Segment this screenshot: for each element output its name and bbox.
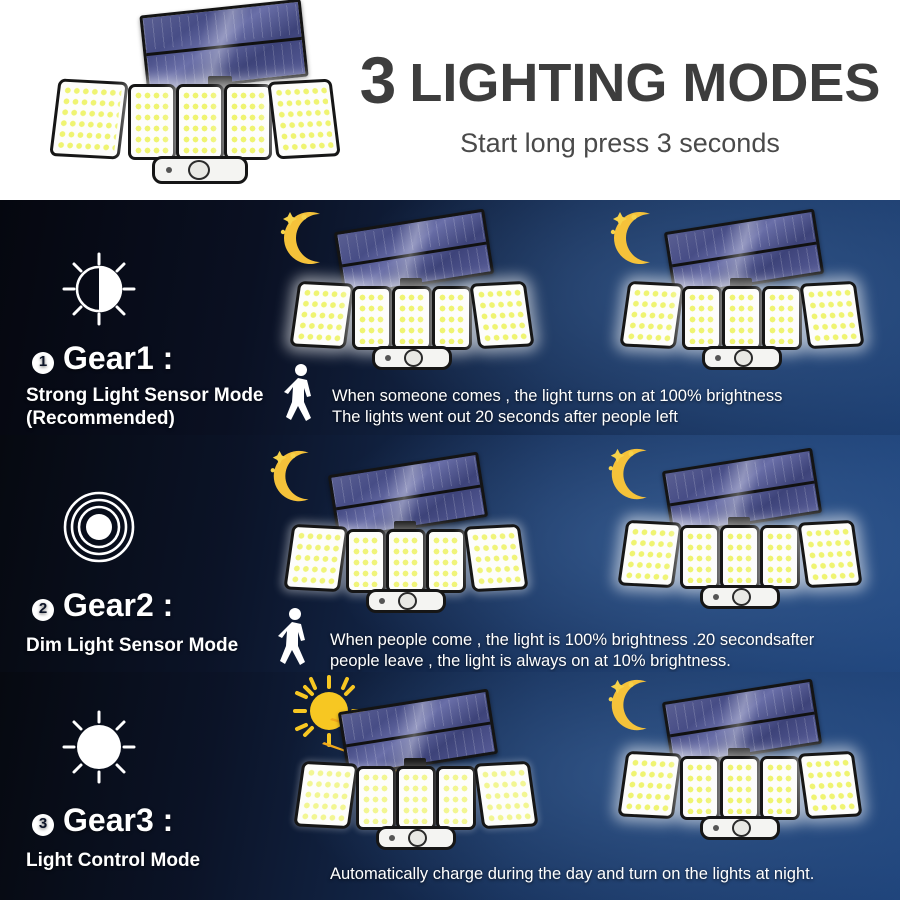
mode-row-gear1: 1Gear1 : Strong Light Sensor Mode (Recom… (0, 200, 900, 435)
lamp-indicator-dot (166, 167, 172, 173)
led-panel-center-3 (224, 84, 272, 160)
modes-section: 1Gear1 : Strong Light Sensor Mode (Recom… (0, 200, 900, 900)
subtitle: Start long press 3 seconds (340, 128, 900, 159)
gear3-description-line1: Automatically charge during the day and … (330, 864, 814, 885)
lamp-illustration-r3-left (292, 700, 540, 858)
product-solar-light-image (40, 4, 340, 196)
gear1-label: Gear1 : (63, 340, 173, 376)
led-panel-center-1 (128, 84, 176, 160)
gear2-label: Gear2 : (63, 587, 173, 623)
lamp-illustration-r3-right (616, 690, 864, 848)
gear1-description-line1: When someone comes , the light turns on … (332, 386, 782, 407)
gear1-title: 1Gear1 : (32, 340, 173, 377)
header-text-block: 3LIGHTING MODES Start long press 3 secon… (340, 42, 900, 159)
gear2-description-line1: When people come , the light is 100% bri… (330, 630, 814, 651)
led-panel-right-wing (267, 79, 341, 160)
gear2-description-line2: people leave , the light is always on at… (330, 651, 731, 672)
led-panel-center-1 (352, 286, 392, 350)
main-title: 3LIGHTING MODES (340, 42, 900, 118)
title-main-text: LIGHTING MODES (409, 53, 880, 113)
gear3-label: Gear3 : (63, 802, 173, 838)
led-panel-center-2 (392, 286, 432, 350)
full-sun-icon (62, 710, 136, 784)
mode-row-gear2: 2Gear2 : Dim Light Sensor Mode (0, 435, 900, 672)
half-sun-icon (62, 252, 136, 326)
gear2-badge: 2 (32, 599, 54, 621)
led-panel-right-wing (469, 281, 534, 349)
led-panel-left-wing (289, 281, 354, 349)
lamp-illustration-r1-right (618, 220, 866, 378)
gear3-title: 3Gear3 : (32, 802, 173, 839)
led-panel-center-2 (176, 84, 224, 160)
lamp-illustration-r1-left (288, 220, 536, 378)
gear1-description-line2: The lights went out 20 seconds after peo… (332, 407, 678, 428)
concentric-rings-icon (62, 490, 136, 564)
gear1-sub-line1: Strong Light Sensor Mode (26, 383, 264, 408)
header-section: 3LIGHTING MODES Start long press 3 secon… (0, 0, 900, 200)
lamp-illustration-r2-right (616, 459, 864, 617)
infographic-page: 3LIGHTING MODES Start long press 3 secon… (0, 0, 900, 900)
gear2-sub-line1: Dim Light Sensor Mode (26, 633, 238, 658)
title-number: 3 (360, 43, 396, 117)
motion-sensor (188, 160, 210, 180)
gear1-sub-line2: (Recommended) (26, 406, 175, 431)
led-panel-center-3 (432, 286, 472, 350)
led-panel-left-wing (293, 761, 358, 829)
gear3-badge: 3 (32, 814, 54, 836)
lamp-illustration-r2-left (282, 463, 530, 621)
led-panel-left-wing (49, 78, 129, 159)
gear3-sub-line1: Light Control Mode (26, 848, 200, 873)
gear2-title: 2Gear2 : (32, 587, 173, 624)
gear1-badge: 1 (32, 352, 54, 374)
mode-row-gear3: 3Gear3 : Light Control Mode (0, 672, 900, 900)
